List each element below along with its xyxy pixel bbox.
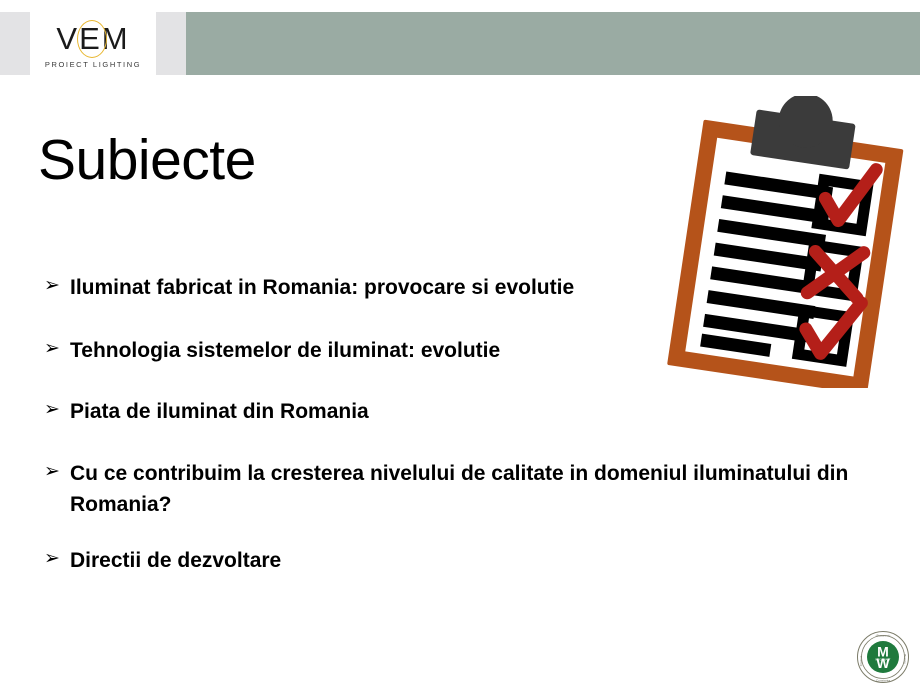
list-item: ➢ Piata de iluminat din Romania — [44, 396, 854, 428]
arrow-bullet-icon: ➢ — [44, 335, 70, 364]
vem-logo-tagline: PROIECT LIGHTING — [45, 60, 141, 69]
svg-text:Craiova ·: Craiova · — [859, 654, 863, 667]
list-item: ➢ Cu ce contribuim la cresterea nivelulu… — [44, 458, 854, 521]
list-item-label: Directii de dezvoltare — [70, 545, 854, 577]
spacer — [44, 521, 854, 545]
svg-text:MEGAWATT: MEGAWATT — [875, 658, 890, 662]
header-band: VEM PROIECT LIGHTING — [0, 12, 920, 75]
clipboard-checklist-icon — [664, 96, 920, 388]
spacer — [44, 428, 854, 458]
header-sage-band — [186, 12, 920, 75]
list-item-label: Cu ce contribuim la cresterea nivelului … — [70, 458, 854, 521]
megawatt-seal-logo-icon: · Bucuresti · · Constanta · Craiova · Br… — [856, 630, 910, 684]
list-item: ➢ Directii de dezvoltare — [44, 545, 854, 577]
arrow-bullet-icon: ➢ — [44, 396, 70, 425]
svg-text:W: W — [876, 655, 890, 671]
svg-text:Brasov ·: Brasov · — [903, 654, 907, 666]
slide-root: VEM PROIECT LIGHTING Subiecte ➢ Iluminat… — [0, 0, 920, 690]
vem-logo-mark: VEM — [37, 19, 149, 59]
arrow-bullet-icon: ➢ — [44, 545, 70, 574]
vem-logo: VEM PROIECT LIGHTING — [30, 12, 156, 75]
vem-logo-ring-icon — [77, 20, 107, 58]
svg-text:· Constanta ·: · Constanta · — [874, 678, 892, 682]
svg-text:· Bucuresti ·: · Bucuresti · — [875, 633, 892, 637]
arrow-bullet-icon: ➢ — [44, 458, 70, 487]
arrow-bullet-icon: ➢ — [44, 272, 70, 301]
list-item-label: Piata de iluminat din Romania — [70, 396, 854, 428]
page-title: Subiecte — [38, 131, 256, 191]
